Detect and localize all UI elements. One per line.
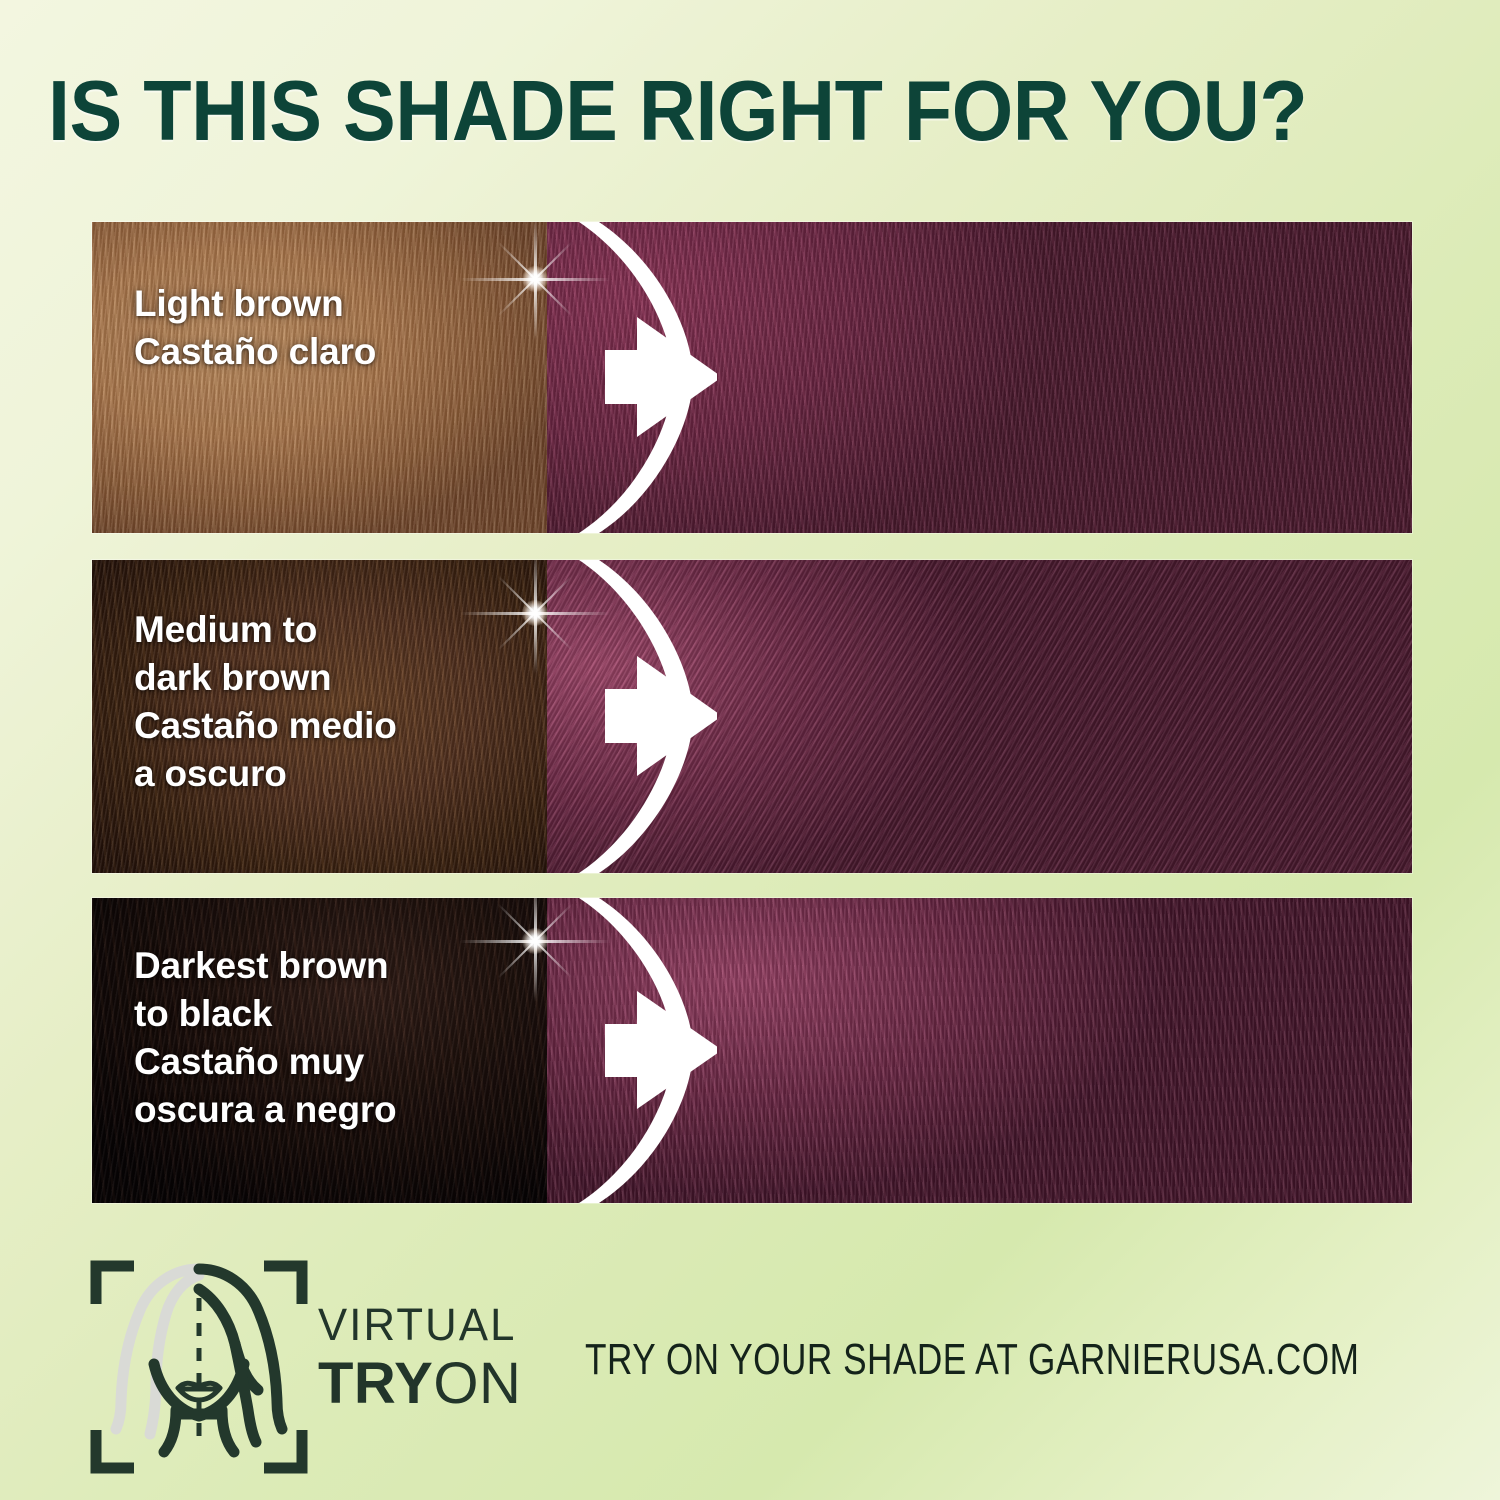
shade-panel-light-brown: Light brown Castaño claro <box>92 222 1412 533</box>
after-hair-burgundy <box>547 222 1412 533</box>
cta-text: TRY ON YOUR SHADE AT GARNIERUSA.COM <box>585 1334 1359 1386</box>
after-hair-burgundy <box>547 898 1412 1203</box>
shade-label-light-brown: Light brown Castaño claro <box>134 280 376 376</box>
shade-label-darkest-brown-black: Darkest brown to black Castaño muy oscur… <box>134 942 396 1134</box>
virtual-try-on-logo <box>88 1258 310 1476</box>
virtual-try-on-wordmark: VIRTUAL TRYON <box>318 1300 523 1416</box>
hair-texture-light-brown <box>92 222 547 533</box>
page-title: IS THIS SHADE RIGHT FOR YOU? <box>48 66 1369 158</box>
shade-panel-medium-dark-brown: Medium to dark brown Castaño medio a osc… <box>92 560 1412 873</box>
shade-label-medium-dark-brown: Medium to dark brown Castaño medio a osc… <box>134 606 397 798</box>
before-hair-light-brown <box>92 222 547 533</box>
shade-panel-darkest-brown-black: Darkest brown to black Castaño muy oscur… <box>92 898 1412 1203</box>
logo-on: ON <box>433 1351 521 1416</box>
logo-line-virtual: VIRTUAL <box>318 1300 517 1350</box>
hair-texture-burgundy <box>547 560 1412 873</box>
logo-line-tryon: TRYON <box>318 1352 523 1416</box>
promo-card: IS THIS SHADE RIGHT FOR YOU? Light brown… <box>0 0 1500 1500</box>
hair-texture-burgundy <box>547 222 1412 533</box>
logo-try: TRY <box>318 1351 433 1416</box>
hair-texture-burgundy <box>547 898 1412 1203</box>
after-hair-burgundy <box>547 560 1412 873</box>
